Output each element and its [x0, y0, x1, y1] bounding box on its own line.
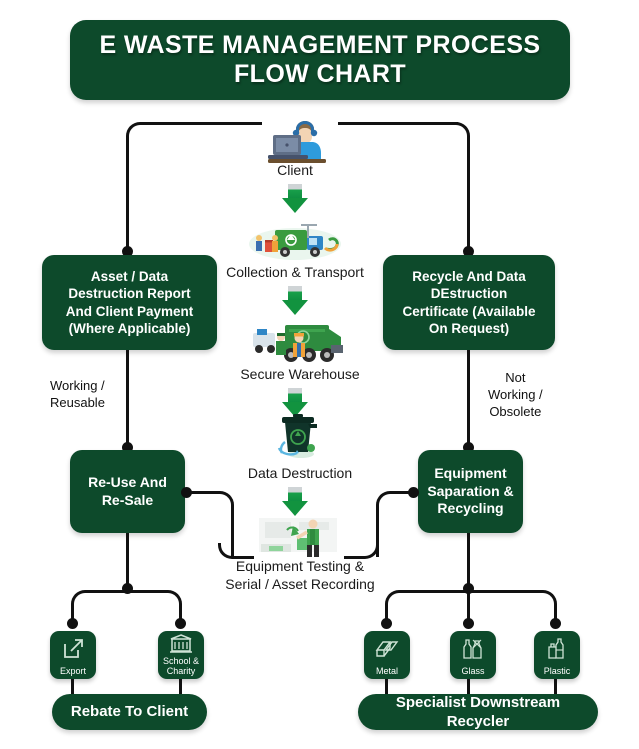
school-building-icon [169, 631, 193, 657]
outcome-tile-export[interactable]: Export [50, 631, 96, 679]
connector-right-vertical-to-recycle [467, 136, 470, 257]
connector-dot-metal [381, 618, 392, 629]
connector-asset-to-reuse [126, 350, 129, 451]
process-box-asset-data-destruction-report[interactable]: Asset / Data Destruction Report And Clie… [42, 255, 217, 350]
banner-rebate-to-client[interactable]: Rebate To Client [52, 694, 207, 730]
step-label-collection: Collection & Transport [215, 264, 375, 282]
recycling-truck-icon [247, 216, 343, 267]
connector-dot-school [175, 618, 186, 629]
outcome-tile-label-glass: Glass [461, 667, 484, 676]
banner-specialist-downstream-recycler[interactable]: Specialist Downstream Recycler [358, 694, 598, 730]
outcome-tile-label-plastic: Plastic [544, 667, 571, 676]
process-box-recycle-destruction-certificate[interactable]: Recycle And Data DEstruction Certificate… [383, 255, 555, 350]
connector-left-vertical-to-asset [126, 136, 129, 257]
outcome-tile-label-metal: Metal [376, 667, 398, 676]
step-label-client: Client [245, 162, 345, 180]
edge-label-working-reusable: Working / Reusable [50, 378, 105, 412]
connector-dot-plastic [550, 618, 561, 629]
export-arrow-icon [61, 631, 85, 667]
connector-reuse-down [126, 533, 129, 590]
step-label-warehouse: Secure Warehouse [225, 366, 375, 384]
outcome-tile-metal[interactable]: Metal [364, 631, 410, 679]
flow-arrow-3 [282, 388, 308, 417]
step-label-equipment-testing: Equipment Testing & Serial / Asset Recor… [205, 558, 395, 593]
plastic-bottles-icon [544, 631, 570, 667]
connector-dot-export [67, 618, 78, 629]
outcome-tile-label-export: Export [60, 667, 86, 676]
connector-testing-right-stub [344, 556, 364, 559]
outcome-tile-label-school-charity: School & Charity [163, 657, 199, 676]
flow-arrow-1 [282, 184, 308, 213]
glass-bottles-icon [460, 631, 486, 667]
connector-right-split-horizontal [399, 590, 543, 593]
connector-separation-to-testing-horizontal [390, 491, 414, 494]
step-label-data-destruction: Data Destruction [225, 465, 375, 483]
process-box-equipment-separation-recycling[interactable]: Equipment Saparation & Recycling [418, 450, 523, 533]
connector-top-right-horizontal [338, 122, 458, 125]
recycling-bin-icon [271, 414, 323, 467]
warehouse-truck-workers-icon [245, 315, 345, 370]
outcome-tile-glass[interactable]: Glass [450, 631, 496, 679]
process-box-reuse-resale[interactable]: Re-Use And Re-Sale [70, 450, 185, 533]
outcome-tile-school-charity[interactable]: School & Charity [158, 631, 204, 679]
flow-arrow-2 [282, 286, 308, 315]
connector-reuse-to-testing-horizontal [190, 491, 220, 494]
connector-dot-glass [463, 618, 474, 629]
outcome-tile-plastic[interactable]: Plastic [534, 631, 580, 679]
flowchart-canvas: E WASTE MANAGEMENT PROCESS FLOW CHART Cl… [0, 0, 639, 749]
page-title: E WASTE MANAGEMENT PROCESS FLOW CHART [70, 20, 570, 100]
connector-recycle-to-separation [467, 350, 470, 451]
connector-left-split-horizontal [85, 590, 168, 593]
edge-label-not-working-obsolete: Not Working / Obsolete [488, 370, 543, 421]
connector-separation-down [467, 533, 470, 590]
metal-blocks-icon [374, 631, 400, 667]
connector-testing-left-stub [232, 556, 254, 559]
connector-top-left-horizontal [140, 122, 262, 125]
